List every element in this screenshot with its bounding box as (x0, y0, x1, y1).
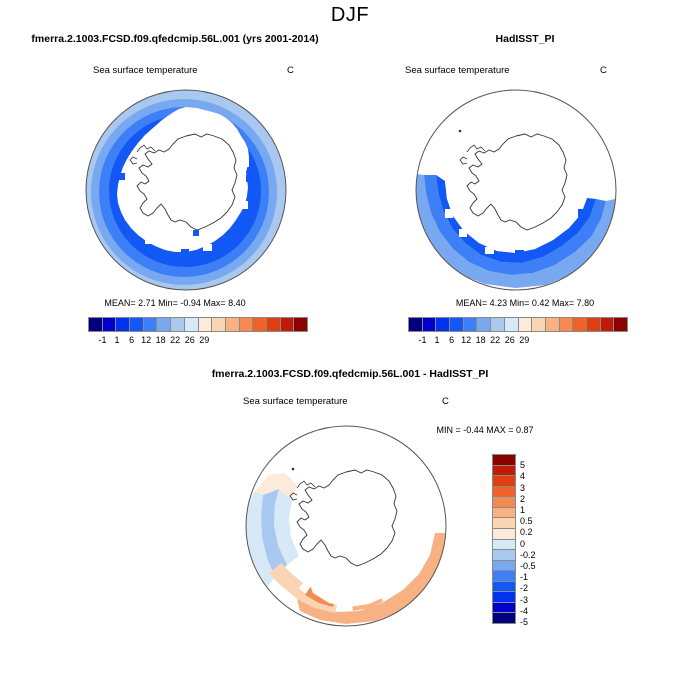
colorbar-tick-label: -3 (520, 595, 528, 605)
colorbar-cell (226, 318, 240, 331)
colorbar-cell (493, 476, 515, 487)
colorbar-cell (532, 318, 546, 331)
colorbar-cell (493, 518, 515, 529)
colorbar-cell (614, 318, 627, 331)
colorbar-tick-label: 0 (520, 539, 525, 549)
colorbar-cell (493, 582, 515, 593)
colorbar-tick-label: 22 (490, 335, 500, 345)
colorbar-cell (493, 497, 515, 508)
colorbar-tick-label: -2 (520, 583, 528, 593)
colorbar-cell (587, 318, 601, 331)
colorbar-cell (294, 318, 307, 331)
colorbar-model[interactable] (88, 317, 308, 332)
colorbar-cell (546, 318, 560, 331)
colorbar-cell (212, 318, 226, 331)
colorbar-tick-label: -1 (99, 335, 107, 345)
panel-difference-variable-label: Sea surface temperature (243, 396, 348, 407)
colorbar-cell (130, 318, 144, 331)
colorbar-tick-label: 6 (449, 335, 454, 345)
panel-difference: fmerra.2.1003.FCSD.f09.qfedcmip.56L.001 … (0, 362, 700, 662)
colorbar-tick-label: -1 (419, 335, 427, 345)
colorbar-tick-label: 4 (520, 471, 525, 481)
map-obs-globe (415, 89, 617, 291)
colorbar-obs[interactable] (408, 317, 628, 332)
colorbar-cell (103, 318, 117, 331)
colorbar-tick-label: 6 (129, 335, 134, 345)
colorbar-cell (493, 613, 515, 623)
colorbar-tick-label: 26 (185, 335, 195, 345)
colorbar-cell (493, 603, 515, 614)
panel-obs-variable-label: Sea surface temperature (405, 65, 510, 76)
colorbar-tick-label: 26 (505, 335, 515, 345)
colorbar-tick-label: -4 (520, 606, 528, 616)
map-model-svg (85, 89, 287, 291)
panel-obs: HadISST_PI Sea surface temperature C (350, 26, 700, 356)
colorbar-cell (253, 318, 267, 331)
colorbar-cell (281, 318, 295, 331)
colorbar-cell (116, 318, 130, 331)
panel-model-stats: MEAN= 2.71 Min= -0.94 Max= 8.40 (0, 298, 350, 308)
colorbar-cell (423, 318, 437, 331)
colorbar-tick-label: 12 (141, 335, 151, 345)
colorbar-cell (493, 561, 515, 572)
panel-obs-title: HadISST_PI (350, 33, 700, 45)
colorbar-cell (493, 592, 515, 603)
colorbar-cell (493, 455, 515, 466)
map-obs-svg (415, 89, 617, 291)
colorbar-cell (450, 318, 464, 331)
panel-obs-stats: MEAN= 4.23 Min= 0.42 Max= 7.80 (350, 298, 700, 308)
colorbar-tick-label: -5 (520, 617, 528, 627)
colorbar-obs-ticklabels: -1161218222629 (408, 335, 626, 347)
map-model-fill-layer (86, 90, 286, 290)
colorbar-cell (519, 318, 533, 331)
colorbar-cell (493, 466, 515, 477)
colorbar-cell (560, 318, 574, 331)
colorbar-tick-label: 1 (435, 335, 440, 345)
colorbar-cell (493, 550, 515, 561)
colorbar-cell (493, 487, 515, 498)
colorbar-tick-label: 0.2 (520, 527, 533, 537)
colorbar-cell (493, 540, 515, 551)
colorbar-cell (505, 318, 519, 331)
colorbar-tick-label: 18 (156, 335, 166, 345)
colorbar-cell (493, 508, 515, 519)
colorbar-difference[interactable] (492, 454, 516, 624)
colorbar-cell (89, 318, 103, 331)
figure-main-title: DJF (0, 4, 700, 27)
panel-difference-title: fmerra.2.1003.FCSD.f09.qfedcmip.56L.001 … (0, 368, 700, 380)
colorbar-tick-label: 22 (170, 335, 180, 345)
panel-obs-unit-label: C (600, 65, 607, 76)
colorbar-tick-label: -1 (520, 572, 528, 582)
colorbar-cell (171, 318, 185, 331)
colorbar-cell (601, 318, 615, 331)
colorbar-cell (436, 318, 450, 331)
panel-model-variable-label: Sea surface temperature (93, 65, 198, 76)
colorbar-cell (491, 318, 505, 331)
colorbar-cell (409, 318, 423, 331)
colorbar-tick-label: 12 (461, 335, 471, 345)
map-difference-svg (245, 425, 447, 627)
panel-difference-unit-label: C (442, 396, 449, 407)
panel-model: fmerra.2.1003.FCSD.f09.qfedcmip.56L.001 … (0, 26, 350, 356)
colorbar-tick-label: 3 (520, 483, 525, 493)
colorbar-tick-label: 29 (199, 335, 209, 345)
figure-canvas: DJF fmerra.2.1003.FCSD.f09.qfedcmip.56L.… (0, 0, 700, 700)
colorbar-tick-label: 18 (476, 335, 486, 345)
colorbar-tick-label: 1 (520, 505, 525, 515)
colorbar-cell (185, 318, 199, 331)
colorbar-cell (240, 318, 254, 331)
colorbar-cell (493, 571, 515, 582)
colorbar-tick-label: 1 (115, 335, 120, 345)
panel-model-title: fmerra.2.1003.FCSD.f09.qfedcmip.56L.001 … (0, 33, 350, 45)
colorbar-tick-label: 5 (520, 460, 525, 470)
colorbar-tick-label: -0.5 (520, 561, 536, 571)
colorbar-difference-ticklabels: 543210.50.20-0.2-0.5-1-2-3-4-5 (520, 454, 560, 622)
colorbar-cell (199, 318, 213, 331)
colorbar-cell (157, 318, 171, 331)
colorbar-cell (267, 318, 281, 331)
colorbar-tick-label: -0.2 (520, 550, 536, 560)
colorbar-tick-label: 0.5 (520, 516, 533, 526)
colorbar-model-ticklabels: -1161218222629 (88, 335, 306, 347)
panel-model-unit-label: C (287, 65, 294, 76)
colorbar-cell (477, 318, 491, 331)
colorbar-tick-label: 29 (519, 335, 529, 345)
panel-difference-stats: MIN = -0.44 MAX = 0.87 (390, 425, 580, 435)
colorbar-cell (493, 529, 515, 540)
colorbar-tick-label: 2 (520, 494, 525, 504)
colorbar-cell (464, 318, 478, 331)
colorbar-cell (144, 318, 158, 331)
map-difference-globe (245, 425, 447, 627)
map-model-globe (85, 89, 287, 291)
colorbar-cell (573, 318, 587, 331)
